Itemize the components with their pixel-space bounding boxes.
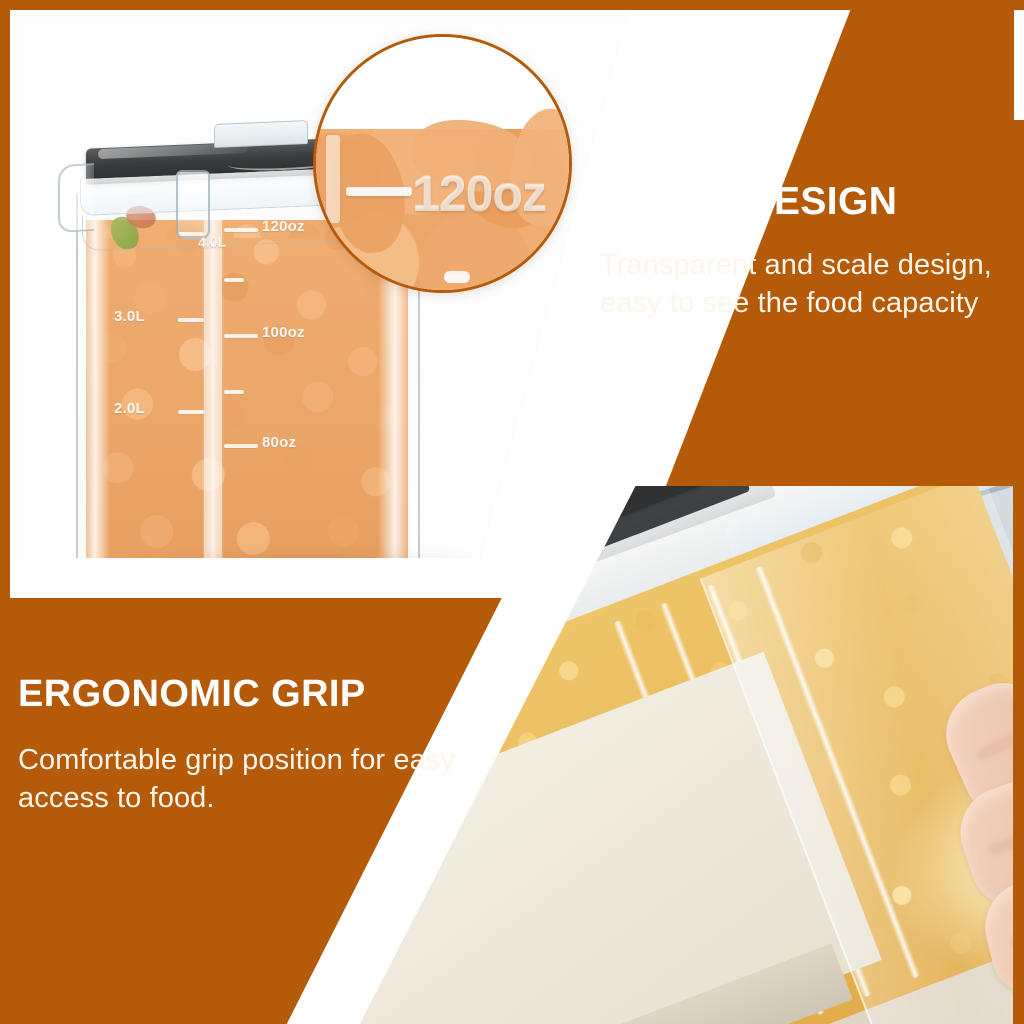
lid-pull-tab — [214, 120, 308, 148]
feature-body-ergonomic-grip: Comfortable grip position for easy acces… — [18, 741, 498, 818]
scale-tick-3L — [178, 318, 204, 322]
scale-label-80oz: 80oz — [262, 434, 296, 451]
scale-label-100oz: 100oz — [262, 324, 305, 341]
feature-title-ergonomic-grip: ERGONOMIC GRIP — [18, 675, 498, 715]
scale-label-4L: 4.0L — [198, 234, 226, 251]
frame-strip-left — [0, 0, 10, 600]
feature-text-block-ergonomic-grip: ERGONOMIC GRIP Comfortable grip position… — [18, 675, 498, 817]
feature-title-scale-design: SCALE DESIGN — [600, 182, 1000, 223]
magnifier-backdrop: 120oz — [316, 37, 569, 290]
infographic-canvas: 120oz 100oz 80oz 3.0L 2.0L — [0, 0, 1024, 1024]
scale-tick-minor-1 — [224, 278, 244, 282]
magnified-scale-bar — [326, 135, 340, 223]
feature-text-block-scale-design: SCALE DESIGN Transparent and scale desig… — [600, 182, 1000, 322]
scale-tick-minor-2 — [224, 390, 244, 394]
magnified-scale-tick — [346, 187, 412, 196]
scale-tick-2L — [178, 410, 204, 414]
magnified-detail-dot — [444, 271, 470, 283]
scale-label-2L: 2.0L — [114, 400, 145, 417]
magnifier-callout: 120oz — [313, 34, 572, 293]
scale-tick-100oz — [224, 334, 258, 338]
frame-strip-right — [1013, 120, 1024, 1024]
frame-strip-top — [0, 0, 1024, 10]
scale-label-3L: 3.0L — [114, 308, 145, 325]
magnified-scale-label: 120oz — [412, 165, 546, 223]
feature-body-scale-design: Transparent and scale design, easy to se… — [600, 247, 1000, 322]
jar-shadow — [98, 546, 518, 558]
scale-ruler-strip — [204, 204, 222, 558]
scale-tick-80oz — [224, 444, 258, 448]
